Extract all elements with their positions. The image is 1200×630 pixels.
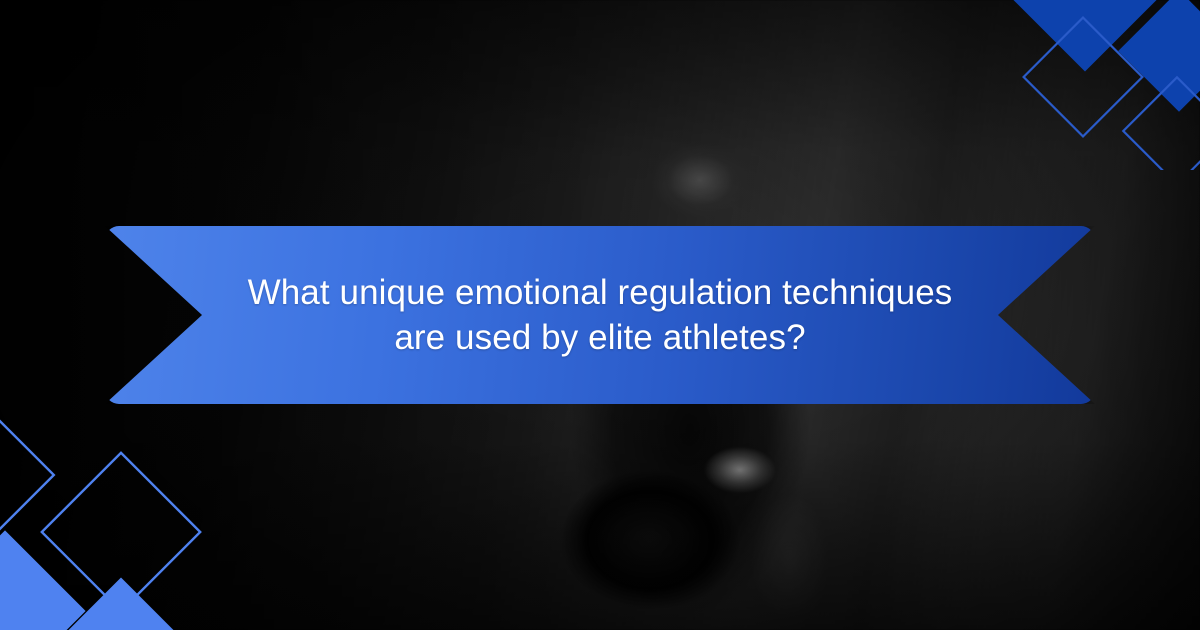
question-line-2: are used by elite athletes?: [394, 315, 805, 361]
question-line-1: What unique emotional regulation techniq…: [248, 270, 953, 316]
question-text: What unique emotional regulation techniq…: [105, 226, 1095, 404]
question-ribbon-banner: What unique emotional regulation techniq…: [105, 226, 1095, 404]
social-card: What unique emotional regulation techniq…: [0, 0, 1200, 630]
